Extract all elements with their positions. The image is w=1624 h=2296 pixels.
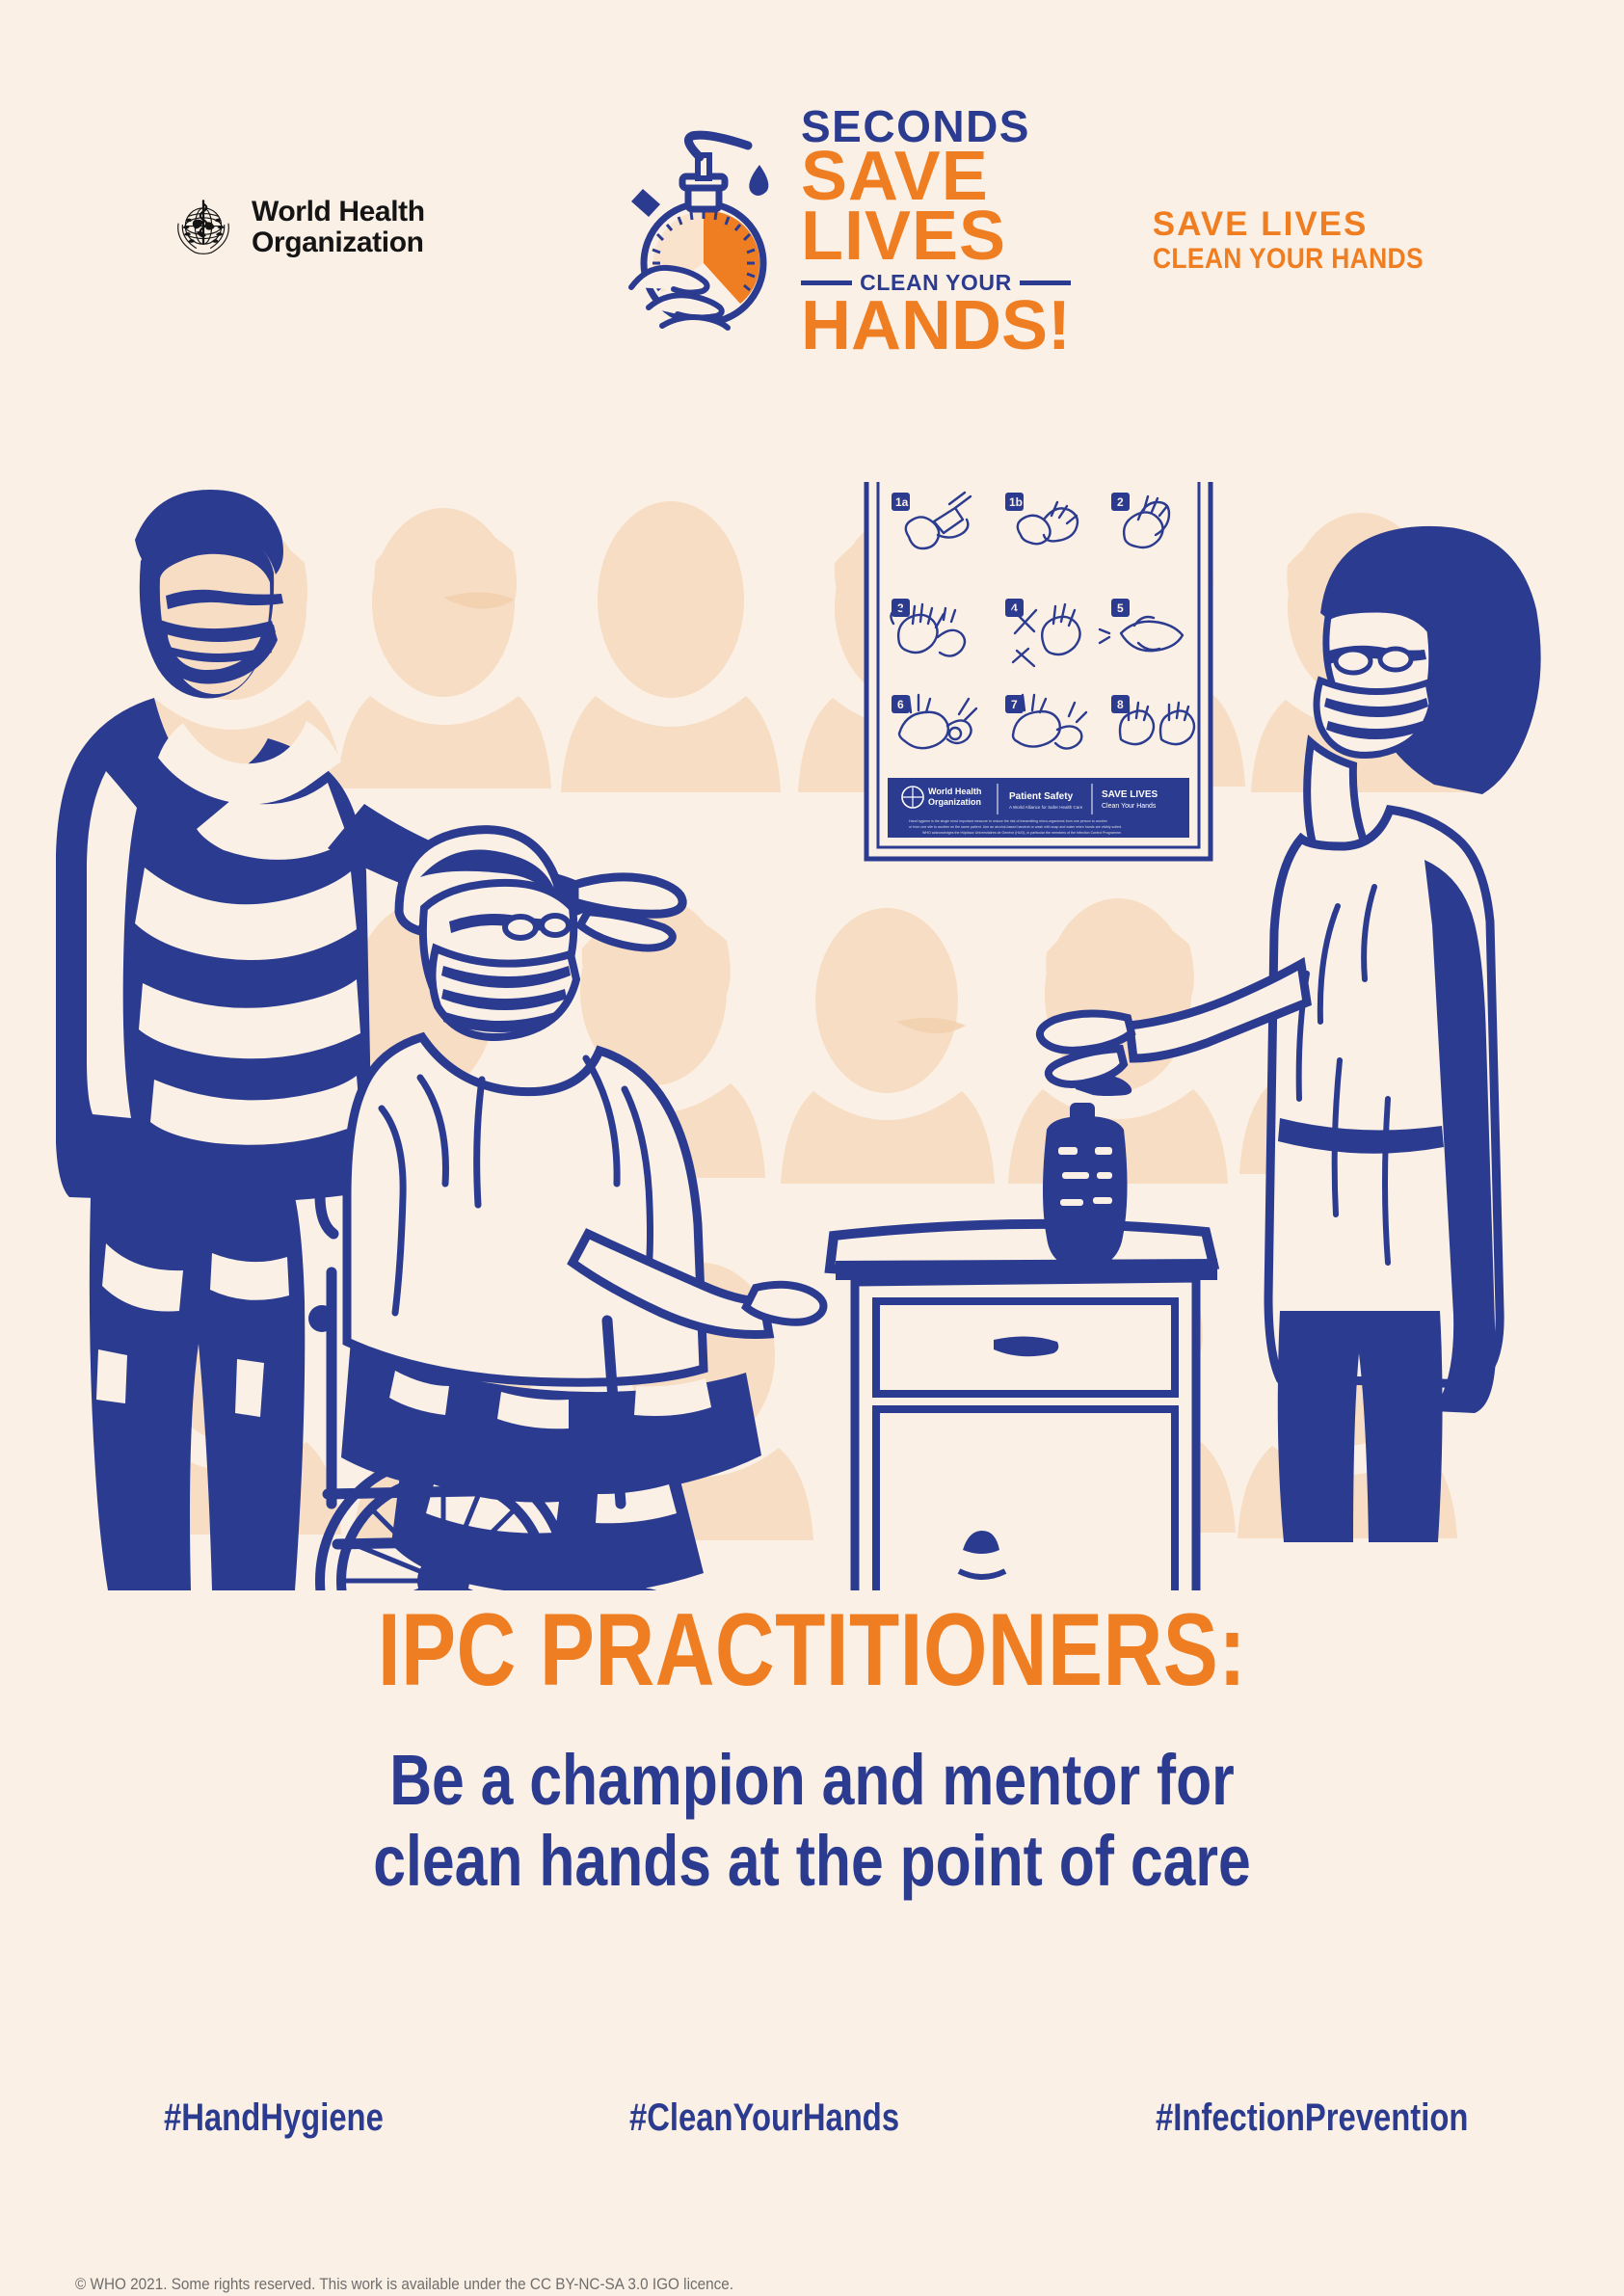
poster-footer-who-2: Organization [928, 797, 981, 807]
hashtag-hand-hygiene[interactable]: #HandHygiene [164, 2096, 384, 2140]
hand-hygiene-scene: How to Handrub? 1a 1b 2 3 4 5 6 7 8 [39, 482, 1585, 1590]
svg-text:A World Alliance for Safer Hea: A World Alliance for Safer Health Care [1009, 805, 1083, 810]
who-line-1: World Health [252, 197, 425, 227]
bedside-table [830, 1224, 1217, 1590]
poster-footer-patient-safety: Patient Safety [1009, 791, 1074, 802]
headline-main: IPC PRACTITIONERS: [194, 1595, 1431, 1703]
campaign-lives: LIVES [801, 207, 1071, 267]
rule-left [801, 280, 852, 285]
hashtag-clean-your-hands[interactable]: #CleanYourHands [629, 2096, 899, 2140]
svg-text:1a: 1a [895, 495, 909, 509]
headline-block: IPC PRACTITIONERS: Be a champion and men… [39, 1595, 1585, 1902]
who-line-2: Organization [252, 227, 425, 258]
svg-text:1b: 1b [1009, 495, 1023, 509]
copyright-notice: © WHO 2021. Some rights reserved. This w… [75, 2275, 733, 2294]
how-to-handrub-poster: How to Handrub? 1a 1b 2 3 4 5 6 7 8 [863, 482, 1214, 863]
who-emblem-icon [169, 193, 238, 262]
poster-footer-who-1: World Health [928, 787, 981, 796]
svg-text:2: 2 [1117, 495, 1124, 509]
campaign-hands: HANDS! [801, 297, 1071, 357]
headline-sub: Be a champion and mentor for clean hands… [177, 1740, 1446, 1901]
poster-page: World Health Organization [0, 0, 1624, 2296]
hashtag-infection-prevention[interactable]: #InfectionPrevention [1156, 2096, 1468, 2140]
who-logo: World Health Organization [169, 193, 425, 262]
svg-text:Hand hygiene is the single mos: Hand hygiene is the single most importan… [909, 819, 1108, 823]
campaign-logo-text: SECONDS SAVE LIVES CLEAN YOUR HANDS! [801, 106, 1071, 356]
svg-text:5: 5 [1117, 601, 1124, 615]
soap-dispenser-stopwatch-icon [602, 128, 795, 335]
poster-footer-save-lives: SAVE LIVES [1102, 789, 1158, 800]
poster-footer-clean-your-hands: Clean Your Hands [1102, 803, 1157, 810]
patient-wheelchair [308, 830, 823, 1590]
svg-text:7: 7 [1011, 698, 1018, 711]
svg-text:8: 8 [1117, 698, 1124, 711]
tagline-clean-your-hands: CLEAN YOUR HANDS [1153, 243, 1424, 275]
svg-text:or from one site to another on: or from one site to another on the same … [909, 825, 1122, 829]
campaign-tagline: SAVE LIVES CLEAN YOUR HANDS [1153, 207, 1460, 275]
poster-canvas: World Health Organization [39, 39, 1585, 2212]
scene-figures [39, 482, 1585, 1590]
svg-text:6: 6 [897, 698, 904, 711]
handrub-poster-svg: How to Handrub? 1a 1b 2 3 4 5 6 7 8 [863, 482, 1214, 863]
campaign-logo: SECONDS SAVE LIVES CLEAN YOUR HANDS! [602, 116, 1055, 347]
hashtag-row: #HandHygiene #CleanYourHands #InfectionP… [164, 2096, 1537, 2140]
sanitizer-bottle [1043, 1072, 1131, 1268]
who-logo-text: World Health Organization [252, 197, 425, 259]
svg-text:WHO acknowledges the Hôpitaux: WHO acknowledges the Hôpitaux Universita… [922, 831, 1122, 835]
headline-sub-line-2: clean hands at the point of care [177, 1821, 1446, 1902]
headline-sub-line-1: Be a champion and mentor for [177, 1740, 1446, 1821]
rule-right [1020, 280, 1071, 285]
poster-header: World Health Organization [39, 96, 1585, 347]
tagline-save-lives: SAVE LIVES [1153, 207, 1460, 243]
